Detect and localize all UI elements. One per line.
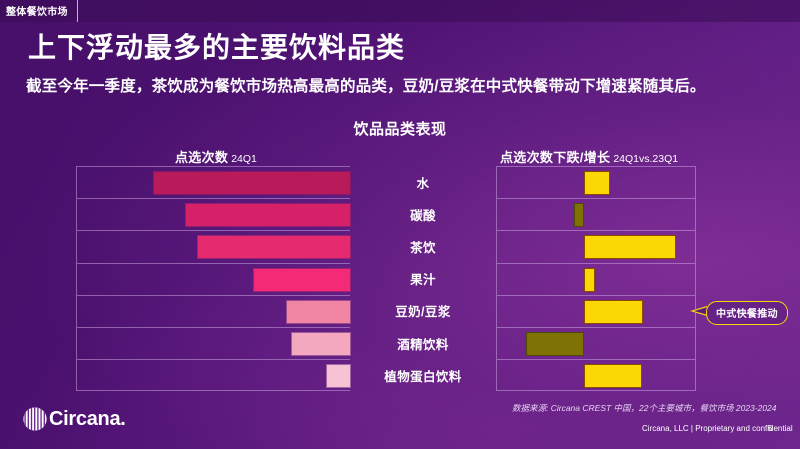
right-panel-cell xyxy=(496,327,696,359)
page-number: 5 xyxy=(768,424,772,433)
column-header-left-sub: 24Q1 xyxy=(231,153,257,165)
column-header-left-main: 点选次数 xyxy=(175,150,228,165)
chart-row: 酒精饮料 xyxy=(0,327,800,359)
left-bar xyxy=(291,332,351,356)
category-label: 豆奶/豆浆 xyxy=(350,295,496,327)
category-label: 植物蛋白饮料 xyxy=(350,359,496,391)
right-panel-cell xyxy=(496,230,696,262)
right-bar-positive xyxy=(584,171,610,195)
right-bar-positive xyxy=(584,235,676,259)
category-label: 果汁 xyxy=(350,263,496,295)
category-label: 水 xyxy=(350,166,496,198)
left-panel-cell xyxy=(76,166,350,198)
slide-canvas: 整体餐饮市场 上下浮动最多的主要饮料品类 截至今年一季度，茶饮成为餐饮市场热高最… xyxy=(0,0,800,449)
left-panel-cell xyxy=(76,263,350,295)
source-note: 数据来源: Circana CREST 中国，22个主要城市，餐饮市场 2023… xyxy=(512,402,777,414)
chart-row: 豆奶/豆浆 xyxy=(0,295,800,327)
chart-row: 水 xyxy=(0,166,800,198)
circana-logo-mark xyxy=(22,406,48,432)
column-header-right-sub: 24Q1vs.23Q1 xyxy=(613,153,678,165)
right-bar-positive xyxy=(584,364,642,388)
left-panel-cell xyxy=(76,198,350,230)
right-panel-cell xyxy=(496,166,696,198)
left-bar xyxy=(326,364,351,388)
left-panel-cell xyxy=(76,295,350,327)
right-panel-cell xyxy=(496,359,696,391)
right-bar-negative xyxy=(526,332,584,356)
right-bar-positive xyxy=(584,268,595,292)
chart-title: 饮品品类表现 xyxy=(0,118,800,139)
top-bar xyxy=(0,0,800,22)
category-label: 碳酸 xyxy=(350,198,496,230)
right-panel-cell xyxy=(496,295,696,327)
chart-row: 茶饮 xyxy=(0,230,800,262)
circana-logo: Circana. xyxy=(22,406,126,432)
left-bar xyxy=(253,268,351,292)
category-label: 酒精饮料 xyxy=(350,327,496,359)
left-panel-cell xyxy=(76,327,350,359)
left-panel-cell xyxy=(76,230,350,262)
chart-row: 果汁 xyxy=(0,263,800,295)
right-bar-negative xyxy=(574,203,584,227)
left-bar xyxy=(197,235,351,259)
category-label: 茶饮 xyxy=(350,230,496,262)
column-header-right: 点选次数下跌/增长24Q1vs.23Q1 xyxy=(500,147,678,167)
left-bar xyxy=(153,171,351,195)
column-header-right-main: 点选次数下跌/增长 xyxy=(500,150,610,165)
right-panel-cell xyxy=(496,263,696,295)
right-panel-cell xyxy=(496,198,696,230)
left-bar xyxy=(185,203,351,227)
column-header-left: 点选次数24Q1 xyxy=(175,147,257,167)
section-tag: 整体餐饮市场 xyxy=(0,0,78,22)
callout-annotation: 中式快餐推动 xyxy=(706,301,788,325)
page-subtitle: 截至今年一季度，茶饮成为餐饮市场热高最高的品类，豆奶/豆浆在中式快餐带动下增速紧… xyxy=(26,74,706,96)
chart-body: 水碳酸茶饮果汁豆奶/豆浆酒精饮料植物蛋白饮料 xyxy=(0,166,800,394)
page-title: 上下浮动最多的主要饮料品类 xyxy=(28,26,405,66)
left-bar xyxy=(286,300,351,324)
right-bar-positive xyxy=(584,300,643,324)
left-panel-cell xyxy=(76,359,350,391)
chart-row: 碳酸 xyxy=(0,198,800,230)
circana-logo-text: Circana. xyxy=(49,409,126,429)
chart-row: 植物蛋白饮料 xyxy=(0,359,800,391)
